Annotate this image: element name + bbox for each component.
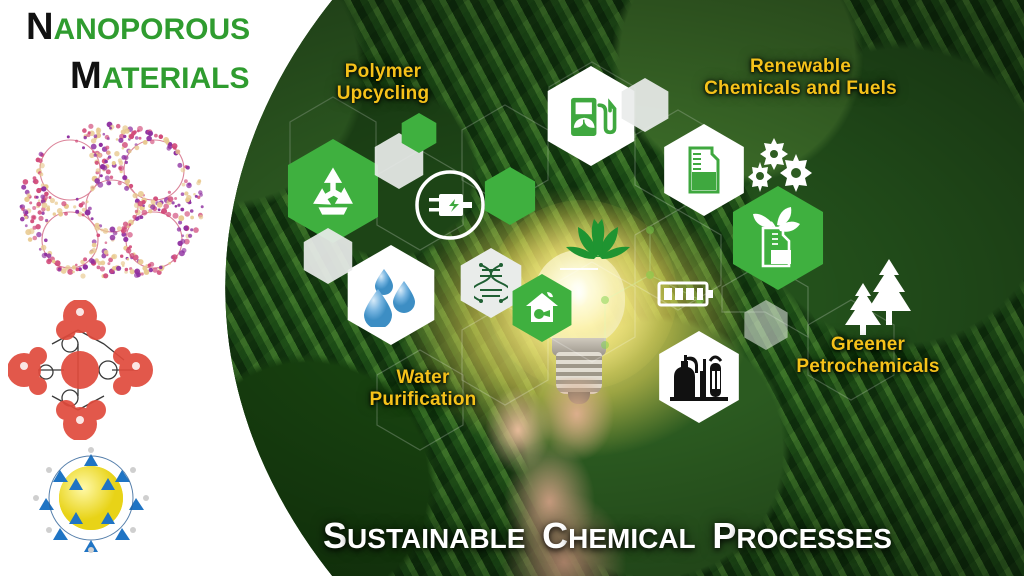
battery-icon	[657, 279, 715, 309]
zeolite-cage-structure	[26, 440, 156, 560]
title-line-2-initial: M	[70, 55, 102, 97]
recycle-icon	[304, 162, 362, 220]
plug-power-icon[interactable]	[413, 168, 487, 242]
poster-canvas: NANOPOROUS MATERIALS {}	[0, 0, 1024, 576]
banner-space-1	[530, 523, 538, 554]
gears-icon	[748, 136, 820, 196]
beaker-icon	[680, 144, 728, 196]
pine-trees-icon	[843, 255, 915, 335]
dna-icon	[474, 263, 508, 303]
banner-word-3: PROCESSES	[712, 535, 892, 552]
label-greener-petrochemicals: Greener Petrochemicals	[768, 334, 968, 377]
mof-cross-structure	[8, 300, 168, 440]
title-line-1-initial: N	[26, 6, 54, 48]
banner-word-1: SUSTAINABLE	[323, 535, 525, 552]
label-water-purification: Water Purification	[333, 367, 513, 410]
label-polymer-upcycling: Polymer Upcycling	[288, 61, 478, 104]
banner-space-2	[700, 523, 708, 554]
label-renewable-chemicals-fuels: Renewable Chemicals and Fuels	[678, 56, 923, 99]
eco-house-icon	[523, 290, 561, 326]
flask-leaf-icon	[749, 206, 807, 270]
fuel-pump-icon	[562, 87, 620, 145]
title-line-1-rest: ANOPOROUS	[54, 13, 251, 46]
title-line-1: NANOPOROUS	[26, 6, 316, 49]
page-title: NANOPOROUS MATERIALS	[26, 6, 316, 98]
banner-title: SUSTAINABLE CHEMICAL PROCESSES	[295, 515, 920, 557]
refinery-icon	[670, 351, 728, 403]
water-drops-icon	[358, 263, 424, 327]
mof-network-structure: {}	[14, 118, 209, 283]
banner-word-2: CHEMICAL	[542, 535, 696, 552]
title-line-2-rest: ATERIALS	[102, 62, 250, 95]
title-line-2: MATERIALS	[26, 55, 316, 98]
leaf-plant-icon	[562, 205, 634, 263]
